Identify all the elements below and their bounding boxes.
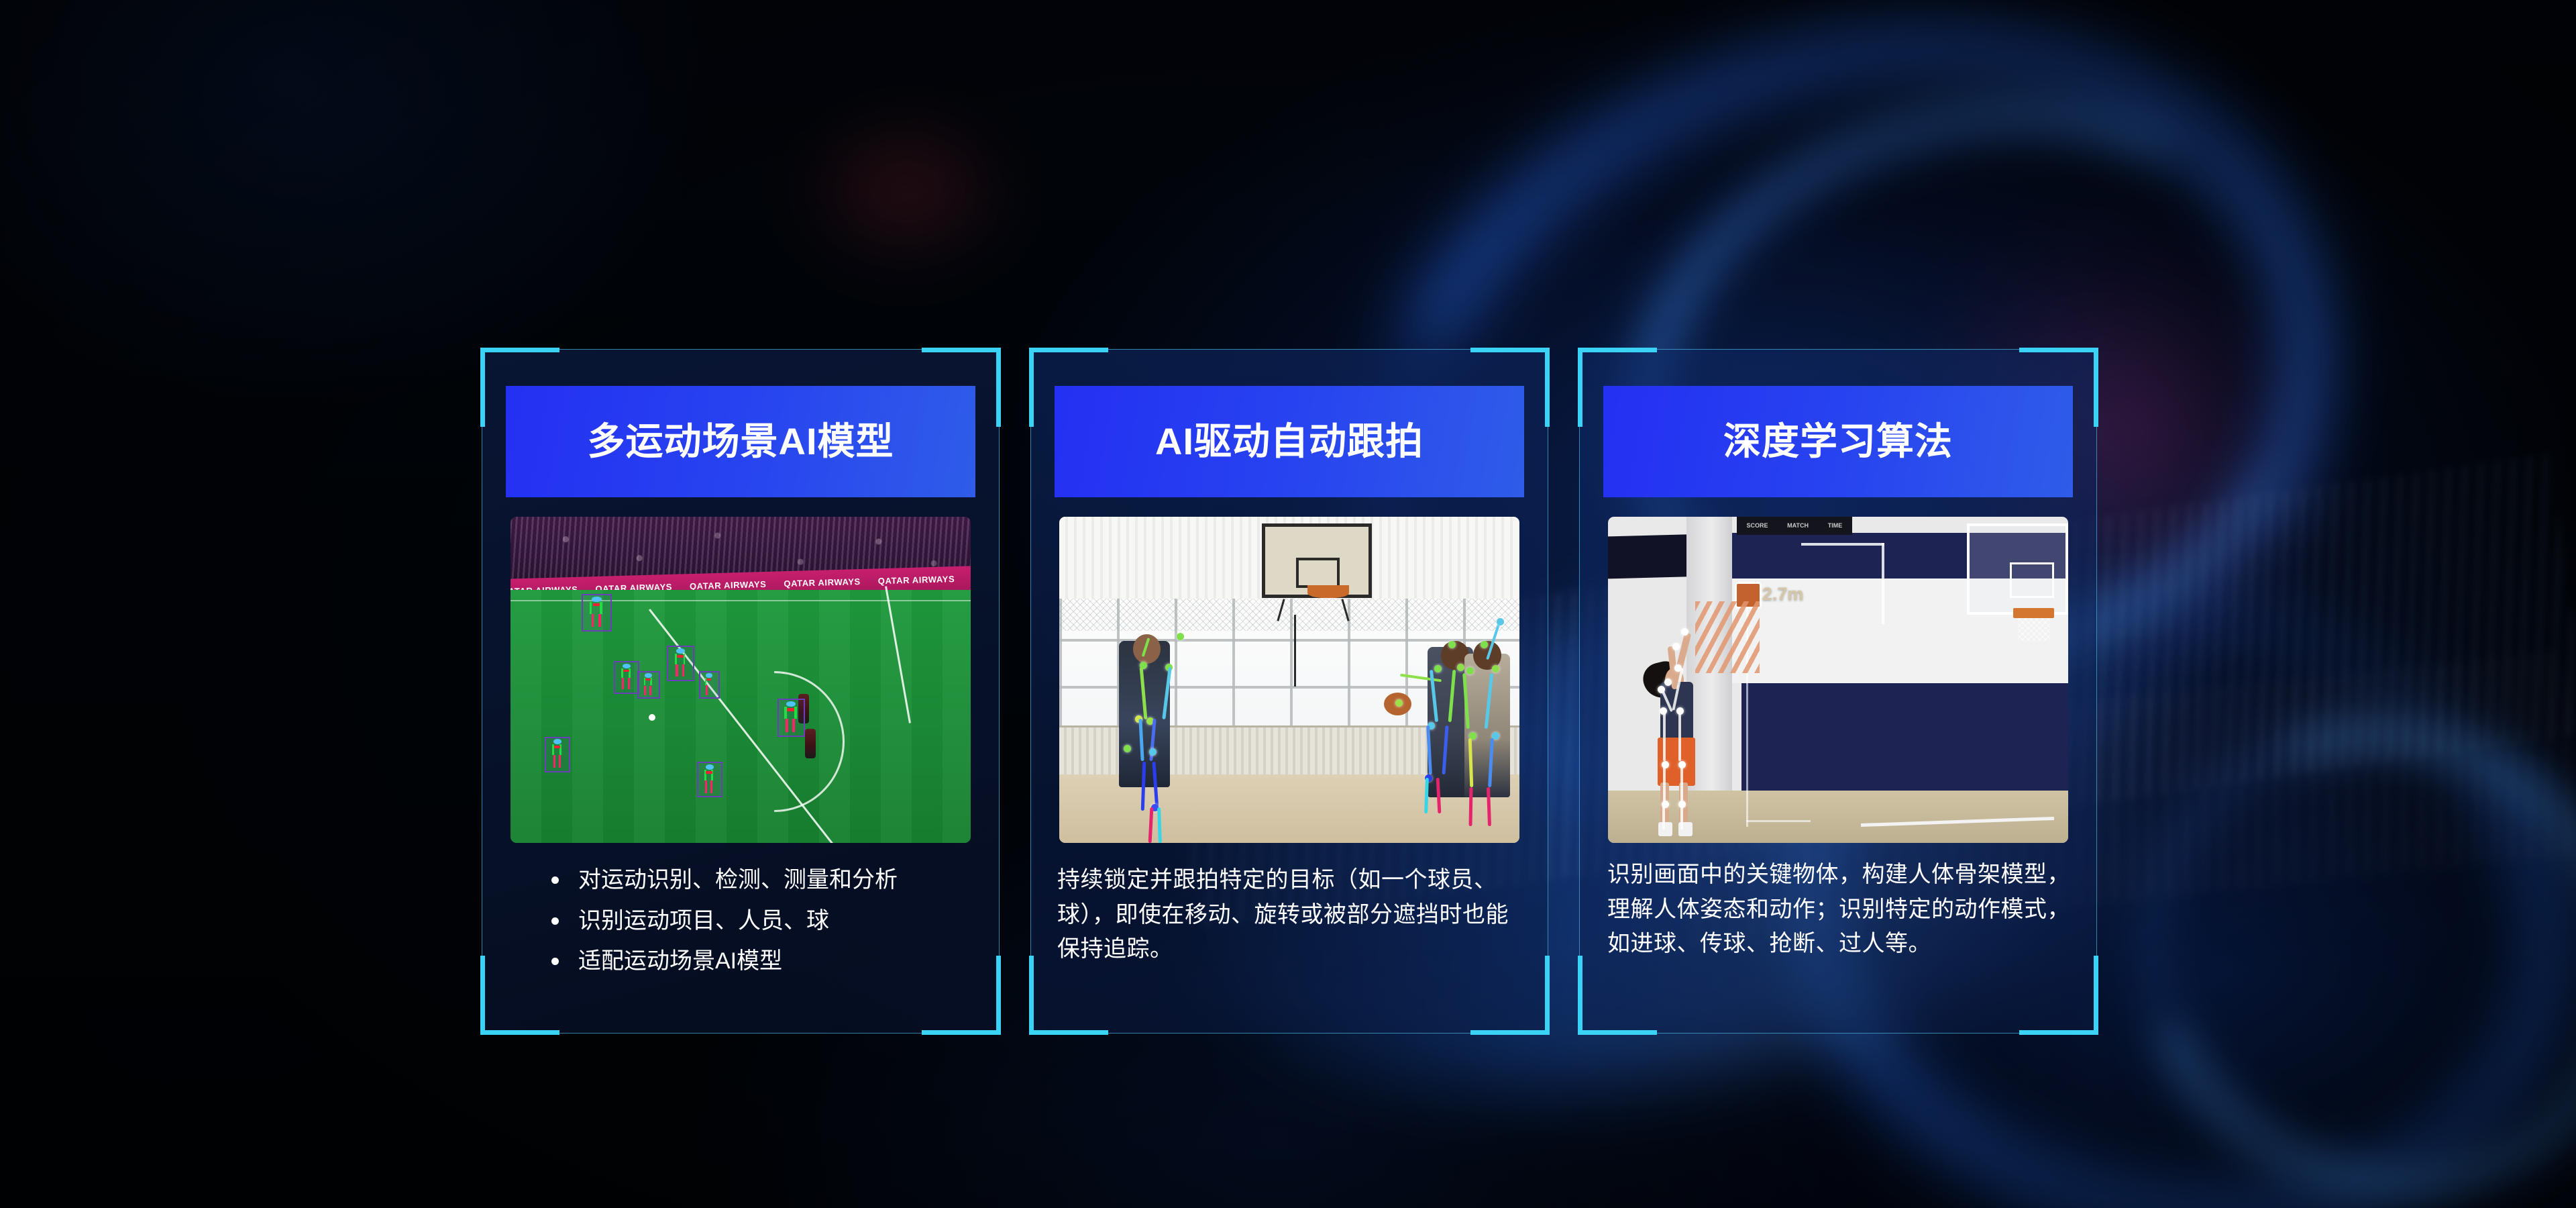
navy-gym-scene: SCORE MATCH TIME	[1608, 517, 2068, 843]
measurement-guide-top	[1801, 543, 1884, 546]
feature-card-row: 多运动场景AI模型 QATAR AIRWAYS QATAR AIRWAYS QA…	[482, 349, 2098, 1040]
card-content: 深度学习算法 SCORE MATCH TIME	[1579, 349, 2097, 1034]
detection-box	[777, 699, 805, 736]
pitch-right-line	[885, 586, 911, 723]
measurement-guide-vertical-right	[1882, 543, 1884, 625]
scoreboard-label-match: MATCH	[1787, 522, 1809, 529]
backboard-inner-square	[2010, 562, 2054, 599]
soccer-scene: QATAR AIRWAYS QATAR AIRWAYS QATAR AIRWAY…	[511, 517, 971, 843]
basketball-backboard	[1967, 523, 2068, 615]
card-title: 深度学习算法	[1723, 423, 1953, 460]
feature-card-deep-learning-algorithm[interactable]: 深度学习算法 SCORE MATCH TIME	[1579, 349, 2097, 1034]
bullet-list: 对运动识别、检测、测量和分析 识别运动项目、人员、球 适配运动场景AI模型	[547, 863, 975, 979]
list-item: 识别运动项目、人员、球	[547, 904, 975, 939]
player-unboxed	[805, 729, 816, 758]
pose-skeleton	[583, 595, 610, 630]
ad-text: QATAR AIRWAYS	[690, 578, 767, 591]
keypoint-wrist	[1681, 628, 1688, 636]
swirl-ring-corner	[2059, 642, 2576, 1208]
card-title: 多运动场景AI模型	[588, 423, 894, 460]
list-item: 对运动识别、检测、测量和分析	[547, 863, 975, 898]
detection-box	[637, 671, 660, 699]
card-media-gym-pose-tracking	[1059, 517, 1519, 843]
shooter-player	[1635, 657, 1714, 836]
detection-box	[667, 646, 694, 681]
pose-skeleton	[698, 763, 721, 796]
card-title-bar: 多运动场景AI模型	[506, 386, 975, 497]
card-content: 多运动场景AI模型 QATAR AIRWAYS QATAR AIRWAYS QA…	[482, 349, 1000, 1034]
card-body-bullets: 对运动识别、检测、测量和分析 识别运动项目、人员、球 适配运动场景AI模型	[506, 863, 975, 985]
detection-box	[614, 661, 639, 694]
card-title-bar: AI驱动自动跟拍	[1055, 386, 1524, 497]
pitch-far-line	[511, 600, 971, 601]
pose-skeleton-player-right	[1059, 517, 1519, 843]
bone-thigh-left	[1663, 764, 1666, 804]
bone-spine-right	[1678, 711, 1681, 761]
gym-scene	[1059, 517, 1519, 843]
pose-skeleton	[700, 672, 718, 697]
scoreboard-label-score: SCORE	[1746, 522, 1768, 529]
ad-text: QATAR AIRWAYS	[784, 576, 861, 588]
card-media-shot-measurement: SCORE MATCH TIME	[1608, 517, 2068, 843]
detection-box	[697, 762, 722, 797]
basketball-rim	[2013, 608, 2055, 618]
list-item: 适配运动场景AI模型	[547, 944, 975, 979]
ad-text: QATAR AIRWAYS	[878, 573, 955, 585]
pose-skeleton	[546, 738, 569, 771]
bone-spine-left	[1663, 711, 1666, 761]
detection-box	[545, 737, 570, 772]
pose-skeleton	[615, 662, 638, 693]
bone-shin-right	[1680, 804, 1683, 829]
slide-canvas: 多运动场景AI模型 QATAR AIRWAYS QATAR AIRWAYS QA…	[0, 0, 2576, 1208]
card-content: AI驱动自动跟拍	[1030, 349, 1548, 1034]
basketball-net	[2018, 618, 2050, 641]
detection-box	[582, 594, 612, 632]
keypoint-wrist	[1672, 643, 1680, 650]
magenta-glow-left	[792, 101, 1020, 275]
pitch-center-arc	[704, 671, 845, 812]
card-body-paragraph: 识别画面中的关键物体，构建人体骨架模型，理解人体姿态和动作；识别特定的动作模式，…	[1603, 858, 2073, 962]
football-pitch	[511, 590, 971, 843]
card-title: AI驱动自动跟拍	[1155, 423, 1424, 460]
pose-skeleton	[668, 647, 693, 680]
feature-card-multi-sport-ai-model[interactable]: 多运动场景AI模型 QATAR AIRWAYS QATAR AIRWAYS QA…	[482, 349, 1000, 1034]
player-shoe	[1658, 822, 1672, 836]
detection-box	[699, 671, 720, 699]
pose-skeleton	[639, 672, 659, 697]
gym-lower-navy-pad	[1741, 683, 2068, 791]
bone-shin-left	[1662, 804, 1665, 829]
scoreboard-label-time: TIME	[1828, 522, 1843, 529]
card-title-bar: 深度学习算法	[1603, 386, 2073, 497]
measurement-guide-bottom	[1746, 820, 1811, 822]
card-media-soccer-detection: QATAR AIRWAYS QATAR AIRWAYS QATAR AIRWAY…	[511, 517, 971, 843]
ball-marker	[649, 714, 655, 721]
feature-card-ai-auto-tracking[interactable]: AI驱动自动跟拍	[1030, 349, 1548, 1034]
scoreboard: SCORE MATCH TIME	[1737, 517, 1852, 535]
measurement-label: 2.7m	[1762, 584, 1804, 605]
bone-thigh-right	[1680, 764, 1683, 804]
card-body-paragraph: 持续锁定并跟拍特定的目标（如一个球员、球），即使在移动、旋转或被部分遮挡时也能保…	[1055, 863, 1524, 967]
pose-skeleton	[779, 700, 804, 735]
